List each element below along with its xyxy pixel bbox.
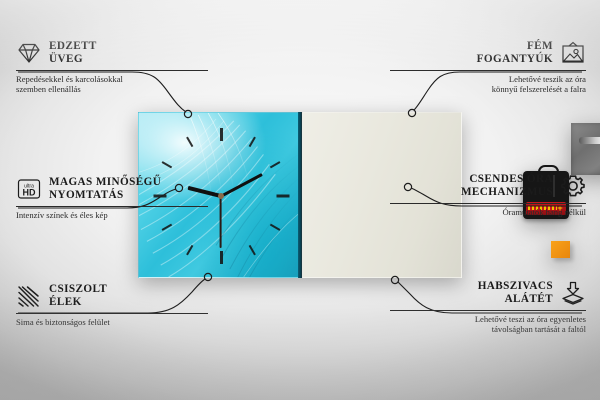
diamond-icon bbox=[16, 40, 42, 66]
clock-tick bbox=[249, 137, 256, 148]
metal-hanger-plate bbox=[571, 123, 600, 175]
feature-foam-pad: HABSZIVACS ALÁTÉT Lehetővé teszi az óra … bbox=[390, 280, 586, 335]
feature-title: CSENDES ÓRA MECHANIZMUS bbox=[461, 173, 553, 198]
polished-edge-icon bbox=[16, 283, 42, 309]
clock-tick bbox=[249, 245, 256, 256]
feature-desc-line1: Sima és biztonságos felület bbox=[16, 317, 208, 327]
clock-tick bbox=[186, 137, 193, 148]
picture-hanger-icon bbox=[560, 40, 586, 66]
feature-title: CSISZOLT ÉLEK bbox=[49, 283, 107, 308]
infographic-canvas: + bbox=[0, 0, 600, 400]
feature-header: HABSZIVACS ALÁTÉT bbox=[390, 280, 586, 306]
clock-tick bbox=[276, 195, 289, 198]
divider bbox=[390, 70, 586, 71]
second-hand bbox=[220, 196, 222, 248]
feature-tempered-glass: EDZETT ÜVEG Repedésekkel és karcolásokka… bbox=[16, 40, 208, 95]
feature-polished-edges: CSISZOLT ÉLEK Sima és biztonságos felüle… bbox=[16, 283, 208, 327]
feature-high-quality-print: ultra HD MAGAS MINŐSÉGŰ NYOMTATÁS Intenz… bbox=[16, 176, 208, 220]
svg-text:HD: HD bbox=[23, 188, 36, 198]
divider bbox=[390, 203, 586, 204]
divider bbox=[16, 206, 208, 207]
clock-tick bbox=[162, 161, 173, 168]
feature-header: CSISZOLT ÉLEK bbox=[16, 283, 208, 309]
clock-tick bbox=[186, 245, 193, 256]
foam-pad-icon bbox=[560, 280, 586, 306]
feature-header: EDZETT ÜVEG bbox=[16, 40, 208, 66]
divider bbox=[16, 70, 208, 71]
foam-pad bbox=[551, 241, 570, 258]
clock-tick bbox=[270, 161, 281, 168]
feature-desc-line2: távolságban tartását a faltól bbox=[390, 324, 586, 334]
divider bbox=[16, 313, 208, 314]
feature-title: EDZETT ÜVEG bbox=[49, 40, 97, 65]
feature-desc-line1: Lehetővé teszi az óra egyenletes bbox=[390, 314, 586, 324]
feature-desc-line1: Repedésekkel és karcolásokkal bbox=[16, 74, 208, 84]
feature-desc-line1: Óramutatók hang nélkül bbox=[390, 207, 586, 217]
feature-desc-line2: könnyű felszerelését a falra bbox=[390, 84, 586, 94]
feature-metal-handles: FÉM FOGANTYÚK Lehetővé teszik az óra kön… bbox=[390, 40, 586, 95]
feature-header: FÉM FOGANTYÚK bbox=[390, 40, 586, 66]
minute-hand bbox=[220, 173, 262, 197]
feature-desc-line1: Lehetővé teszik az óra bbox=[390, 74, 586, 84]
feature-header: CSENDES ÓRA MECHANIZMUS bbox=[390, 173, 586, 199]
divider bbox=[390, 310, 586, 311]
feature-title: MAGAS MINŐSÉGŰ NYOMTATÁS bbox=[49, 176, 161, 201]
clock-center-pin bbox=[218, 193, 224, 199]
feature-header: ultra HD MAGAS MINŐSÉGŰ NYOMTATÁS bbox=[16, 176, 208, 202]
feature-desc-line1: Intenzív színek és éles kép bbox=[16, 210, 208, 220]
gear-icon bbox=[560, 173, 586, 199]
hanger-slot bbox=[579, 137, 600, 144]
clock-tick bbox=[270, 224, 281, 231]
feature-title: HABSZIVACS ALÁTÉT bbox=[478, 280, 553, 305]
clock-tick bbox=[220, 251, 223, 264]
feature-desc-line2: szemben ellenállás bbox=[16, 84, 208, 94]
feature-silent-movement: CSENDES ÓRA MECHANIZMUS Óramutatók hang … bbox=[390, 173, 586, 217]
clock-tick bbox=[162, 224, 173, 231]
ultra-hd-icon: ultra HD bbox=[16, 176, 42, 202]
feature-title: FÉM FOGANTYÚK bbox=[477, 40, 553, 65]
clock-tick bbox=[220, 128, 223, 141]
